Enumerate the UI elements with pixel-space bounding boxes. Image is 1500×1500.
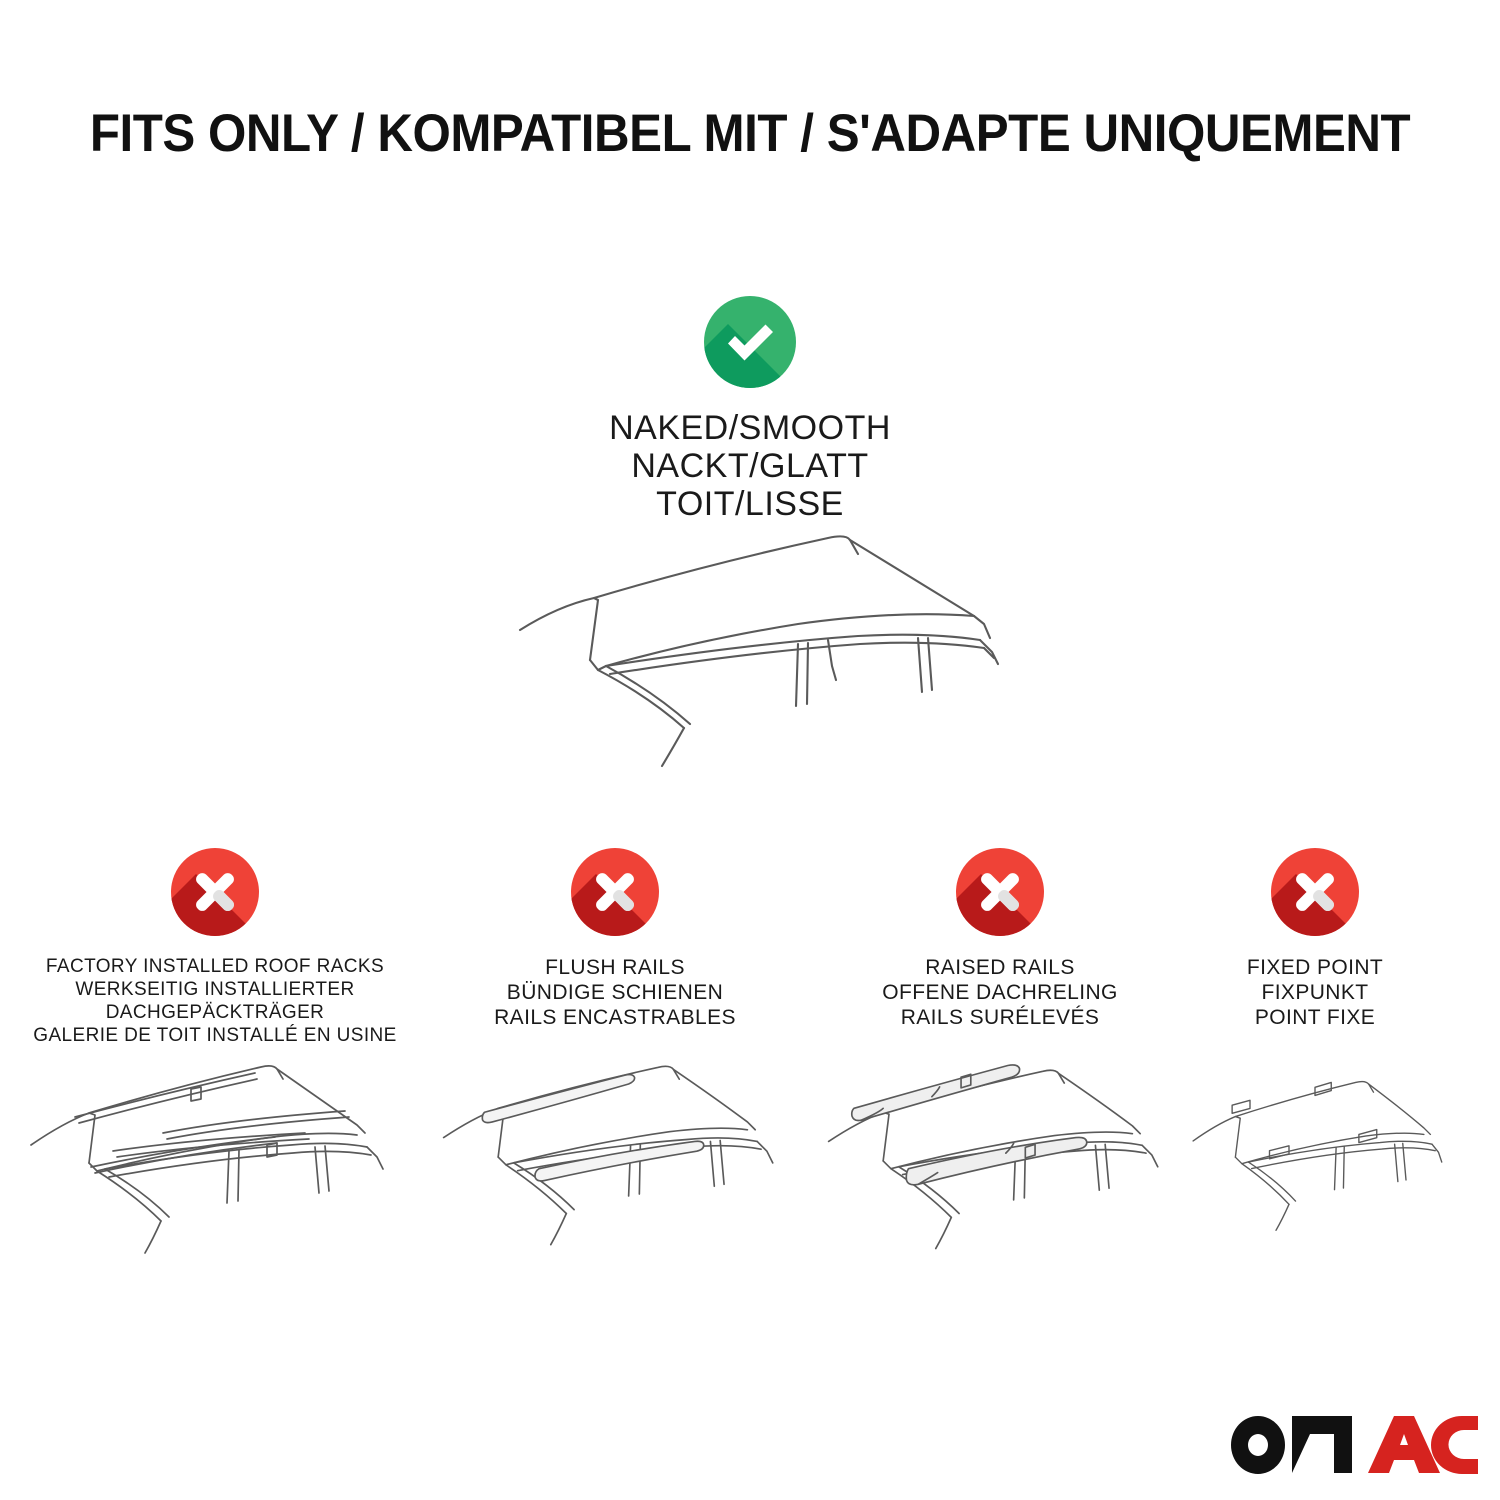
caption-line-1: FACTORY INSTALLED ROOF RACKS bbox=[5, 955, 425, 978]
caption-line-3: RAILS SURÉLEVÉS bbox=[815, 1005, 1185, 1030]
caption-line-4: GALERIE DE TOIT INSTALLÉ EN USINE bbox=[5, 1024, 425, 1047]
caption-line-3: POINT FIXE bbox=[1185, 1005, 1445, 1030]
approved-label-line-2: NACKT/GLATT bbox=[470, 447, 1030, 485]
caption-line-2: OFFENE DACHRELING bbox=[815, 980, 1185, 1005]
approved-label-line-3: TOIT/LISSE bbox=[470, 485, 1030, 523]
incompatible-fixed-point: FIXED POINT FIXPUNKT POINT FIXE bbox=[1185, 848, 1445, 1030]
caption-line-1: FIXED POINT bbox=[1185, 955, 1445, 980]
x-circle-icon bbox=[571, 848, 659, 936]
logo-letter-a bbox=[1368, 1416, 1440, 1473]
car-roof-naked-smooth-illustration bbox=[498, 520, 1038, 800]
caption-line-1: FLUSH RAILS bbox=[430, 955, 800, 980]
omac-logo bbox=[1228, 1412, 1478, 1474]
x-circle-icon bbox=[171, 848, 259, 936]
incompatible-flush-rails: FLUSH RAILS BÜNDIGE SCHIENEN RAILS ENCAS… bbox=[430, 848, 800, 1030]
x-circle-icon bbox=[1271, 848, 1359, 936]
logo-letter-c bbox=[1431, 1416, 1478, 1474]
caption-line-2: WERKSEITIG INSTALLIERTER bbox=[5, 978, 425, 1001]
approved-label-line-1: NAKED/SMOOTH bbox=[470, 409, 1030, 447]
approved-roof-type: NAKED/SMOOTH NACKT/GLATT TOIT/LISSE bbox=[470, 296, 1030, 523]
check-circle-icon bbox=[704, 296, 796, 388]
logo-letter-o bbox=[1231, 1416, 1285, 1474]
caption-line-2: BÜNDIGE SCHIENEN bbox=[430, 980, 800, 1005]
car-roof-factory-roof-racks-illustration bbox=[5, 1053, 425, 1263]
caption-line-1: RAISED RAILS bbox=[815, 955, 1185, 980]
caption-line-2: FIXPUNKT bbox=[1185, 980, 1445, 1005]
car-roof-flush-rails-illustration bbox=[430, 1053, 800, 1263]
page-title: FITS ONLY / KOMPATIBEL MIT / S'ADAPTE UN… bbox=[53, 104, 1448, 164]
caption-line-3: RAILS ENCASTRABLES bbox=[430, 1005, 800, 1030]
caption-line-3: DACHGEPÄCKTRÄGER bbox=[5, 1001, 425, 1024]
infographic-page: FITS ONLY / KOMPATIBEL MIT / S'ADAPTE UN… bbox=[0, 0, 1500, 1500]
car-roof-fixed-point-illustration bbox=[1185, 1053, 1445, 1263]
incompatible-factory-roof-racks: FACTORY INSTALLED ROOF RACKS WERKSEITIG … bbox=[5, 848, 425, 1047]
incompatible-raised-rails: RAISED RAILS OFFENE DACHRELING RAILS SUR… bbox=[815, 848, 1185, 1030]
x-circle-icon bbox=[956, 848, 1044, 936]
car-roof-raised-rails-illustration bbox=[815, 1053, 1185, 1263]
incompatible-roof-types: FACTORY INSTALLED ROOF RACKS WERKSEITIG … bbox=[0, 848, 1500, 1448]
